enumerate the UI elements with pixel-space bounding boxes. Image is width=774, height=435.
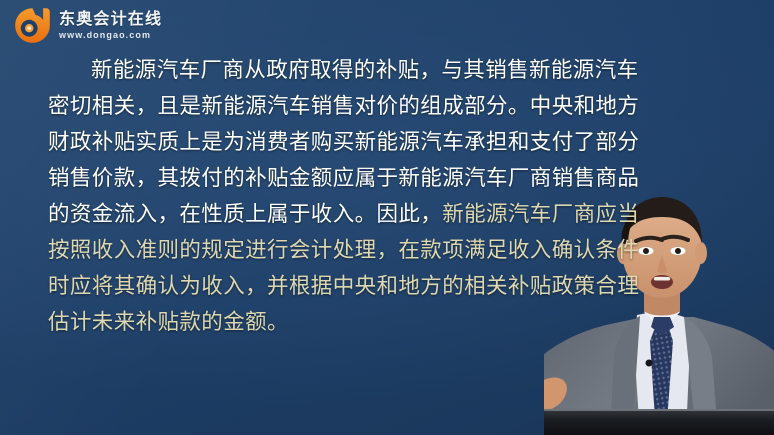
brand-name: 东奥会计在线 xyxy=(59,12,162,28)
brand-logo[interactable]: 东奥会计在线 www.dongao.com xyxy=(14,7,162,44)
dongao-circle-logo-icon xyxy=(14,7,51,44)
presenter-desk xyxy=(544,409,774,435)
slide-body-text: 新能源汽车厂商从政府取得的补贴，与其销售新能源汽车密切相关，且是新能源汽车销售对… xyxy=(48,52,648,340)
brand-url: www.dongao.com xyxy=(59,31,162,40)
slide-text-plain: 新能源汽车厂商从政府取得的补贴，与其销售新能源汽车密切相关，且是新能源汽车销售对… xyxy=(48,58,639,226)
slide-paragraph: 新能源汽车厂商从政府取得的补贴，与其销售新能源汽车密切相关，且是新能源汽车销售对… xyxy=(48,52,648,340)
brand-logo-text: 东奥会计在线 www.dongao.com xyxy=(59,11,162,40)
lecture-slide-screen: 东奥会计在线 www.dongao.com 新能源汽车厂商从政府取得的补贴，与其… xyxy=(0,0,774,435)
